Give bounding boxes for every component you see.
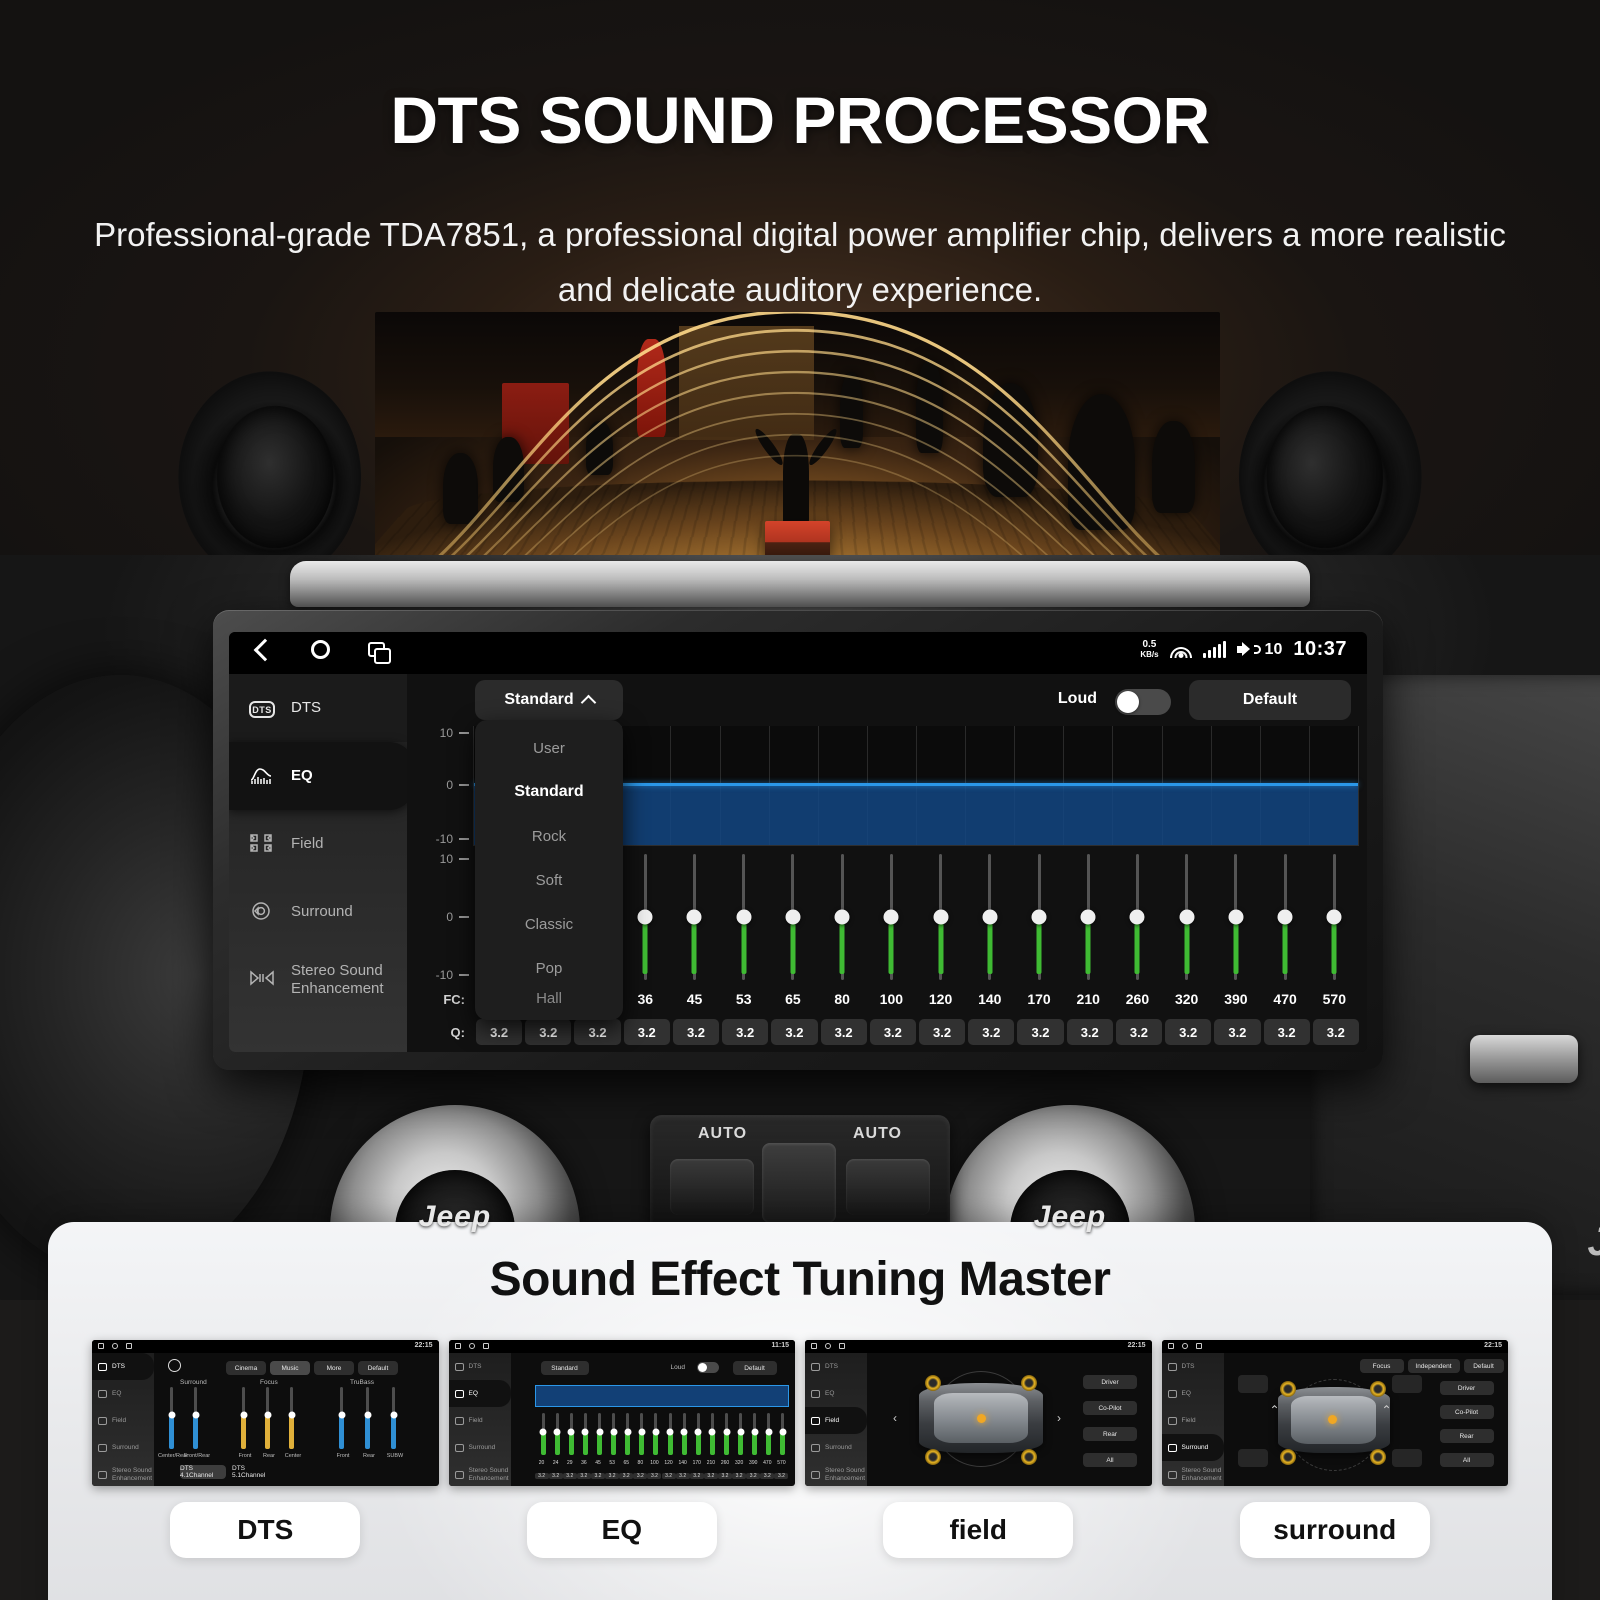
musician-figure [840,372,864,448]
thumb-eq-slider[interactable] [570,1413,573,1455]
thumb-tab-independent[interactable]: Independent [1408,1359,1460,1373]
slider-fill [1233,917,1238,974]
sidebar-item-stereo-sound-enhancement[interactable]: Stereo Sound Enhancement [229,946,407,1014]
thumb-section-surround: Surround [180,1379,207,1386]
dropdown-option-rock[interactable]: Rock [475,814,623,858]
thumb-speaker-fr-icon [1370,1381,1386,1397]
slider-knob[interactable] [1179,910,1194,925]
thumb-eq-slider[interactable] [697,1413,700,1455]
thumb-sidebar-label: Stereo Sound Enhancement [112,1467,154,1481]
dropdown-option-soft[interactable]: Soft [475,858,623,902]
slider-knob[interactable] [1228,910,1243,925]
speaker-icon [1237,642,1254,657]
eq-band-slider[interactable] [1211,854,1260,980]
thumb-button-rear[interactable]: Rear [1440,1429,1494,1443]
thumb-eq-curve [535,1385,790,1407]
eq-frequency-value[interactable]: 36 [621,991,670,1007]
sidebar-item-label: DTS [291,699,321,717]
eq-q-value[interactable]: 3.2 [574,1019,620,1045]
page-subtitle: Professional-grade TDA7851, a profession… [70,208,1530,318]
thumb-dts-slider[interactable] [170,1387,173,1449]
data-rate-unit: KB/s [1140,651,1158,659]
eq-band-slider[interactable] [670,854,719,980]
sidebar-item-label: Surround [291,903,353,921]
label-pill-dts[interactable]: DTS [170,1502,360,1558]
graph-y-axis: 10 0 -10 [415,726,469,846]
thumb-eq-frequency: 65 [619,1460,633,1466]
equalizer-icon [249,764,275,788]
eq-q-value[interactable]: 3.2 [1067,1019,1113,1045]
eq-band-slider[interactable] [916,854,965,980]
eq-frequency-value[interactable]: 120 [916,991,965,1007]
thumb-eq-slider[interactable] [584,1413,587,1455]
eq-frequency-value[interactable]: 53 [719,991,768,1007]
eq-q-value[interactable]: 3.2 [968,1019,1014,1045]
slider-fill [643,917,648,974]
volume-level: 10 [1265,641,1283,659]
window-auto-label-right: AUTO [853,1125,902,1143]
screenshot-thumbnails: 22:15 DTS EQ Field Surround Stereo Sound… [92,1340,1508,1486]
slider-fill [987,917,992,974]
thumb-sidebar: DTS EQ Field Surround Stereo Sound Enhan… [805,1353,867,1486]
thumb-sidebar-label: EQ [469,1390,478,1397]
thumb-eq-frequency: 210 [704,1460,718,1466]
eq-q-value[interactable]: 3.2 [624,1019,670,1045]
label-pill-surround[interactable]: surround [1240,1502,1430,1558]
eq-band-slider[interactable] [1261,854,1310,980]
sidebar-item-label: Field [291,835,324,853]
slider-knob[interactable] [1032,910,1047,925]
thumb-button-copilot[interactable]: Co-Pilot [1083,1401,1137,1415]
chevron-right-icon[interactable]: › [1057,1411,1061,1425]
thumb-section-trubass: TruBass [350,1379,374,1386]
slider-knob[interactable] [835,910,850,925]
window-button-left[interactable] [670,1159,754,1215]
thumb-speaker-fl-icon [1280,1381,1296,1397]
thumb-sidebar-label: Stereo Sound Enhancement [825,1467,867,1481]
thumb-focus-point[interactable] [1328,1415,1337,1424]
eq-frequency-value[interactable]: 390 [1211,991,1260,1007]
thumb-sidebar: DTS EQ Field Surround Stereo Sound Enhan… [449,1353,511,1486]
thumb-eq-frequency: 24 [549,1460,563,1466]
conductor-figure [783,434,809,529]
eq-band-slider[interactable] [719,854,768,980]
thumb-speaker-rr-icon [1370,1449,1386,1465]
dts-logo-icon: DTS [249,701,275,718]
dropdown-option-standard[interactable]: Standard [475,770,623,814]
thumb-eq-slider[interactable] [725,1413,728,1455]
door-handle [1470,1035,1578,1083]
eq-frequency-value[interactable]: 100 [867,991,916,1007]
dropdown-option-hall[interactable]: Hall [475,990,623,1012]
eq-q-row: Q: 3.23.23.23.23.23.23.23.23.23.23.23.23… [413,1018,1359,1046]
thumb-eq-frequency: 20 [535,1460,549,1466]
thumb-dts-slider-label: SUBW [378,1453,412,1459]
thumb-default-button[interactable]: Default [733,1361,777,1375]
musician-figure [1068,394,1136,530]
surround-icon [249,900,275,924]
slider-fill [1283,917,1288,974]
thumb-eq-frequency: 100 [647,1460,661,1466]
thumb-eq-slider[interactable] [767,1413,770,1455]
musician-figure [493,437,523,502]
thumb-eq-q-value[interactable]: 3.2 [549,1473,563,1479]
eq-band-slider[interactable] [621,854,670,980]
eq-frequency-value[interactable]: 320 [1162,991,1211,1007]
eq-frequency-value[interactable]: 65 [768,991,817,1007]
stage-red-figure [637,339,666,437]
thumb-eq-slider[interactable] [542,1413,545,1455]
thumb-dts-slider-label: Front/Rear [180,1453,214,1459]
thumb-eq-frequency: 29 [563,1460,577,1466]
thumb-eq-slider[interactable] [612,1413,615,1455]
thumb-eq-q-value[interactable]: 3.2 [704,1473,718,1479]
eq-q-value[interactable]: 3.2 [821,1019,867,1045]
conductor-podium [765,521,829,556]
android-nav-bar [257,640,385,659]
jeep-badge: Je [1588,1220,1600,1265]
eq-q-value[interactable]: 3.2 [476,1019,522,1045]
q-row-label: Q: [413,1025,473,1040]
stage-panel [679,326,814,440]
thumb-eq-frequency: 390 [746,1460,760,1466]
window-switch-panel[interactable]: AUTO AUTO [650,1115,950,1235]
thumb-sidebar-label: Field [1182,1417,1196,1424]
musician-figure [916,361,943,453]
thumbnail-dts[interactable]: 22:15 DTS EQ Field Surround Stereo Sound… [92,1340,439,1486]
axis-tick: 0 [446,910,453,924]
slider-fill [741,917,746,974]
vent-brand-left: Jeep [330,1200,580,1234]
thumb-eq-q-value[interactable]: 3.2 [676,1473,690,1479]
thumb-focus-point[interactable] [977,1414,986,1423]
thumb-eq-slider[interactable] [626,1413,629,1455]
thumb-sidebar-label: DTS [469,1363,482,1370]
slider-knob[interactable] [1081,910,1096,925]
loud-toggle[interactable] [1115,689,1171,715]
eq-band-slider[interactable] [965,854,1014,980]
thumb-speaker-rr-icon [1021,1449,1037,1465]
thumb-eq-q-value[interactable]: 3.2 [577,1473,591,1479]
thumb-section-focus: Focus [260,1379,278,1386]
slider-knob[interactable] [638,910,653,925]
thumb-sidebar-label: Field [112,1417,126,1424]
thumbnail-eq[interactable]: 11:15 DTS EQ Field Surround Stereo Sound… [449,1340,796,1486]
dropdown-option-pop[interactable]: Pop [475,946,623,990]
thumb-eq-slider[interactable] [640,1413,643,1455]
thumb-eq-q-value[interactable]: 3.2 [662,1473,676,1479]
car-head-unit: 0.5 KB/s 10 10:37 DTS DTS [213,610,1383,1070]
window-auto-label-left: AUTO [698,1125,747,1143]
thumb-sidebar-label: Surround [825,1444,852,1451]
vent-brand-right: Jeep [945,1200,1195,1234]
thumb-sidebar-label: DTS [112,1363,125,1370]
eq-q-value[interactable]: 3.2 [1214,1019,1260,1045]
eq-q-value[interactable]: 3.2 [771,1019,817,1045]
thumb-button-rear[interactable]: Rear [1083,1427,1137,1441]
fc-row-label: FC: [413,992,473,1007]
slider-fill [1086,917,1091,974]
thumb-button-all[interactable]: All [1083,1453,1137,1467]
thumb-time: 22:15 [415,1342,433,1349]
showcase-title: Sound Effect Tuning Master [48,1252,1552,1307]
thumb-button-driver[interactable]: Driver [1440,1381,1494,1395]
default-button[interactable]: Default [1189,680,1351,720]
dropdown-option-user[interactable]: User [475,726,623,770]
thumb-sidebar-label: Stereo Sound Enhancement [1182,1467,1224,1481]
thumb-eq-q-value[interactable]: 3.2 [732,1473,746,1479]
sidebar-item-label: EQ [291,767,313,785]
chevron-up-left-icon[interactable]: ⌃ [1270,1403,1280,1417]
clock: 10:37 [1293,638,1347,661]
thumb-loud-toggle[interactable] [697,1362,719,1373]
thumb-eq-q-value[interactable]: 3.2 [647,1473,661,1479]
thumb-sidebar-label: EQ [825,1390,834,1397]
sidebar-item-field[interactable]: Field [229,810,407,878]
thumb-eq-slider[interactable] [711,1413,714,1455]
thumb-tab-focus[interactable]: Focus [1360,1359,1404,1373]
recent-apps-icon[interactable] [368,642,385,657]
thumb-time: 22:15 [1128,1342,1146,1349]
feature-showcase-card: Sound Effect Tuning Master 22:15 DTS EQ … [48,1222,1552,1600]
thumb-eq-q-value[interactable]: 3.2 [605,1473,619,1479]
thumb-eq-q-value[interactable]: 3.2 [690,1473,704,1479]
thumb-dts-slider[interactable] [340,1387,343,1449]
thumb-sidebar-label: Surround [112,1444,139,1451]
eq-frequency-value[interactable]: 210 [1064,991,1113,1007]
chevron-up-right-icon[interactable]: ⌃ [1382,1403,1392,1417]
thumb-sidebar-label: Field [469,1417,483,1424]
slider-knob[interactable] [736,910,751,925]
sidebar-item-surround[interactable]: Surround [229,878,407,946]
thumb-tab-cinema[interactable]: Cinema [226,1361,266,1375]
slider-knob[interactable] [982,910,997,925]
eq-q-value[interactable]: 3.2 [525,1019,571,1045]
thumb-eq-slider[interactable] [683,1413,686,1455]
thumb-eq-q-value[interactable]: 3.2 [774,1473,788,1479]
thumb-eq-q-value[interactable]: 3.2 [633,1473,647,1479]
signal-bars-icon [1203,641,1226,658]
axis-tick: 0 [446,778,453,792]
chevron-left-icon[interactable]: ‹ [893,1411,897,1425]
eq-frequency-value[interactable]: 80 [818,991,867,1007]
eq-q-value[interactable]: 3.2 [870,1019,916,1045]
wifi-icon [1170,641,1192,658]
preset-selected-label: Standard [504,691,573,709]
slider-fill [790,917,795,974]
slider-fill [692,917,697,974]
chevron-up-icon [580,694,596,710]
eq-q-value[interactable]: 3.2 [1264,1019,1310,1045]
thumb-dts-slider[interactable] [366,1387,369,1449]
thumb-button-copilot[interactable]: Co-Pilot [1440,1405,1494,1419]
thumb-eq-q-value[interactable]: 3.2 [535,1473,549,1479]
eq-q-value[interactable]: 3.2 [673,1019,719,1045]
slider-knob[interactable] [1327,910,1342,925]
axis-tick: 10 [440,852,453,866]
thumb-sidebar-label: Field [825,1417,839,1424]
thumb-tab-music[interactable]: Music [270,1361,310,1375]
thumb-eq-slider[interactable] [654,1413,657,1455]
musician-figure [586,421,613,475]
label-pill-field[interactable]: field [883,1502,1073,1558]
eq-frequency-value[interactable]: 570 [1310,991,1359,1007]
eq-frequency-value[interactable]: 260 [1113,991,1162,1007]
axis-tick: -10 [436,832,453,846]
status-bar: 0.5 KB/s 10 10:37 [229,632,1367,674]
thumb-tab-more[interactable]: More [314,1361,354,1375]
thumb-time: 11:15 [771,1342,789,1349]
slider-fill [1037,917,1042,974]
thumb-dts-slider[interactable] [194,1387,197,1449]
thumb-eq-frequency: 260 [718,1460,732,1466]
slider-fill [1135,917,1140,974]
thumb-eq-frequency: 53 [605,1460,619,1466]
sound-field-icon [249,832,275,856]
eq-band-slider[interactable] [867,854,916,980]
preset-dropdown-button[interactable]: Standard [475,680,623,720]
thumb-speaker-fr-icon [1021,1375,1037,1391]
stereo-enhance-icon [249,968,275,992]
thumb-loud-label: Loud [671,1364,685,1371]
eq-q-value[interactable]: 3.2 [722,1019,768,1045]
thumb-chip-dts41[interactable]: DTS 4.1Channel [180,1465,226,1479]
thumbnail-labels: DTS EQ field surround [92,1502,1508,1558]
thumb-eq-frequency: 170 [690,1460,704,1466]
slider-y-axis: 10 0 -10 [415,852,469,982]
thumb-sidebar: DTS EQ Field Surround Stereo Sound Enhan… [92,1353,154,1486]
thumb-eq-slider[interactable] [556,1413,559,1455]
eq-q-value[interactable]: 3.2 [1313,1019,1359,1045]
page-title: DTS SOUND PROCESSOR [0,82,1600,158]
thumb-dts-slider[interactable] [290,1387,293,1449]
thumb-eq-slider[interactable] [598,1413,601,1455]
thumb-eq-slider[interactable] [753,1413,756,1455]
eq-q-value[interactable]: 3.2 [1017,1019,1063,1045]
thumb-eq-frequency: 470 [760,1460,774,1466]
sidebar-item-dts[interactable]: DTS DTS [229,674,407,742]
thumb-sidebar-label: EQ [1182,1390,1191,1397]
eq-toolbar: Standard Loud Default [407,680,1367,724]
thumb-eq-slider[interactable] [669,1413,672,1455]
thumb-sidebar-label: DTS [1182,1363,1195,1370]
thumb-eq-q-value[interactable]: 3.2 [563,1473,577,1479]
data-rate-value: 0.5 [1142,639,1156,650]
thumb-eq-slider[interactable] [739,1413,742,1455]
eq-band-slider[interactable] [1310,854,1359,980]
thumb-eq-q-value[interactable]: 3.2 [591,1473,605,1479]
slider-knob[interactable] [687,910,702,925]
thumb-eq-q-value[interactable]: 3.2 [760,1473,774,1479]
axis-tick: 10 [440,726,453,740]
label-pill-eq[interactable]: EQ [527,1502,717,1558]
eq-band-slider[interactable] [1113,854,1162,980]
slider-knob[interactable] [1130,910,1145,925]
thumb-chip-dts51[interactable]: DTS 5.1Channel [232,1465,278,1479]
thumb-delay-rl[interactable] [1238,1449,1268,1467]
thumb-dts-slider[interactable] [392,1387,395,1449]
thumb-eq-frequency: 45 [591,1460,605,1466]
eq-frequency-value[interactable]: 170 [1014,991,1063,1007]
slider-knob[interactable] [785,910,800,925]
eq-band-slider[interactable] [1014,854,1063,980]
slider-fill [938,917,943,974]
eq-band-slider[interactable] [1064,854,1113,980]
musician-figure [983,383,1038,497]
preset-dropdown-menu[interactable]: User Standard Rock Soft Classic Pop Hall [475,720,623,1020]
thumb-sidebar-label: Stereo Sound Enhancement [469,1467,511,1481]
slider-knob[interactable] [933,910,948,925]
dashboard-trim [290,561,1310,607]
eq-q-value[interactable]: 3.2 [1165,1019,1211,1045]
thumb-speaker-rl-icon [925,1449,941,1465]
home-circle-icon[interactable] [311,640,330,659]
data-rate-indicator: 0.5 KB/s [1140,640,1158,659]
thumb-eq-slider[interactable] [781,1413,784,1455]
thumb-dts-slider[interactable] [242,1387,245,1449]
loud-label: Loud [1058,690,1097,708]
eq-frequency-value[interactable]: 140 [965,991,1014,1007]
thumb-delay-fl[interactable] [1238,1375,1268,1393]
eq-band-slider[interactable] [818,854,867,980]
eq-band-slider[interactable] [768,854,817,980]
musician-figure [443,453,478,524]
eq-q-value[interactable]: 3.2 [919,1019,965,1045]
window-button-right[interactable] [846,1159,930,1215]
thumb-eq-q-value[interactable]: 3.2 [746,1473,760,1479]
thumb-button-driver[interactable]: Driver [1083,1375,1137,1389]
slider-knob[interactable] [884,910,899,925]
thumb-eq-q-value[interactable]: 3.2 [718,1473,732,1479]
thumb-sidebar-label: Surround [1182,1444,1209,1451]
sidebar-item-label: Stereo Sound Enhancement [291,962,407,997]
thumb-delay-fr[interactable] [1392,1375,1422,1393]
slider-fill [840,917,845,974]
thumb-speaker-rl-icon [1280,1449,1296,1465]
thumb-tab-default[interactable]: Default [1464,1359,1504,1373]
thumb-sidebar-label: DTS [825,1363,838,1370]
thumb-button-all[interactable]: All [1440,1453,1494,1467]
thumb-tab-default[interactable]: Default [358,1361,398,1375]
slider-fill [1332,917,1337,974]
thumb-power-icon [168,1359,181,1372]
thumb-delay-rr[interactable] [1392,1449,1422,1467]
thumb-sidebar: DTS EQ Field Surround Stereo Sound Enhan… [1162,1353,1224,1486]
thumbnail-surround[interactable]: 22:15 DTS EQ Field Surround Stereo Sound… [1162,1340,1509,1486]
thumb-eq-frequency: 570 [774,1460,788,1466]
slider-fill [1184,917,1189,974]
thumb-eq-frequency: 80 [633,1460,647,1466]
sidebar-item-eq[interactable]: EQ [229,742,415,810]
orchestra-stage-image [375,312,1220,584]
thumb-eq-frequency: 120 [662,1460,676,1466]
thumb-preset-button[interactable]: Standard [541,1361,589,1375]
dropdown-option-classic[interactable]: Classic [475,902,623,946]
eq-frequency-value[interactable]: 470 [1261,991,1310,1007]
slider-knob[interactable] [1278,910,1293,925]
eq-frequency-value[interactable]: 45 [670,991,719,1007]
status-indicators: 0.5 KB/s 10 10:37 [1140,638,1347,661]
window-lock-button[interactable] [762,1143,836,1223]
back-arrow-icon[interactable] [254,638,277,661]
thumb-dts-slider[interactable] [266,1387,269,1449]
eq-q-value[interactable]: 3.2 [1116,1019,1162,1045]
thumb-eq-q-value[interactable]: 3.2 [619,1473,633,1479]
axis-tick: -10 [436,968,453,982]
thumbnail-field[interactable]: 22:15 DTS EQ Field Surround Stereo Sound… [805,1340,1152,1486]
hero-section: DTS SOUND PROCESSOR Professional-grade T… [0,0,1600,600]
eq-band-slider[interactable] [1162,854,1211,980]
